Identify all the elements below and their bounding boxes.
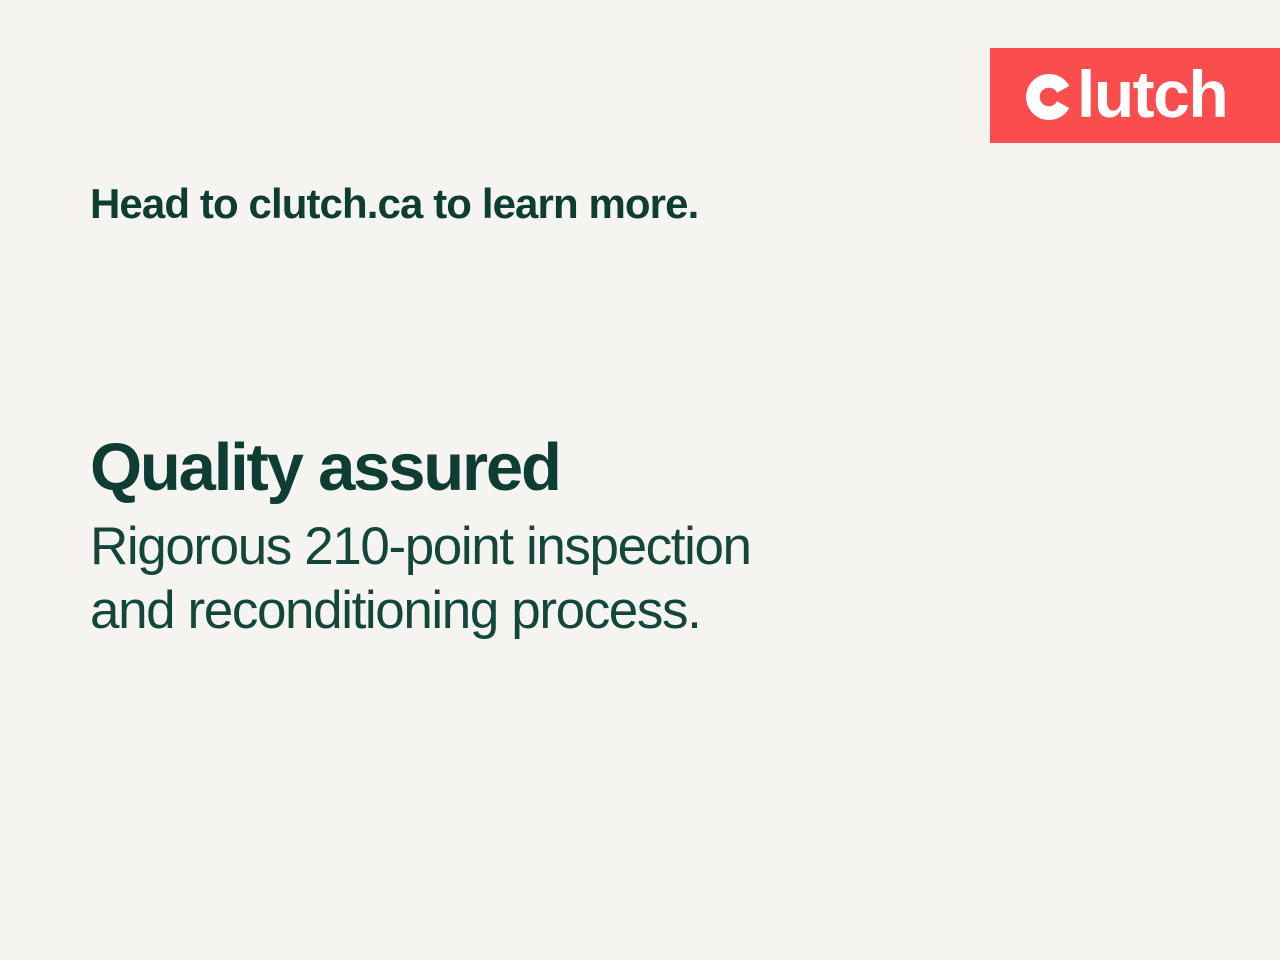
subhead-line-1: Rigorous 210-point inspection bbox=[90, 515, 1090, 579]
subhead-line-2: and reconditioning process. bbox=[90, 579, 1090, 643]
clutch-c-mark-icon bbox=[1024, 72, 1074, 122]
promo-slide: lutch Head to clutch.ca to learn more. Q… bbox=[0, 0, 1280, 960]
page-title: Quality assured bbox=[90, 432, 1090, 503]
kicker-text: Head to clutch.ca to learn more. bbox=[90, 179, 698, 229]
copy-block: Quality assured Rigorous 210-point inspe… bbox=[90, 432, 1090, 643]
clutch-wordmark: lutch bbox=[1024, 63, 1227, 129]
subhead-text: Rigorous 210-point inspection and recond… bbox=[90, 515, 1090, 643]
clutch-wordmark-text: lutch bbox=[1077, 61, 1227, 127]
clutch-brand-badge: lutch bbox=[990, 48, 1280, 143]
